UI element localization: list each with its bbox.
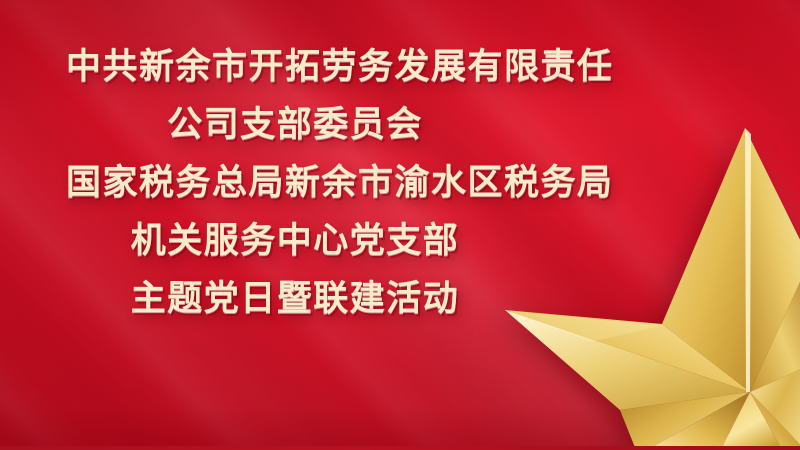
headline-line-4: 机关服务中心党支部: [0, 218, 640, 263]
headline-line-5: 主题党日暨联建活动: [0, 276, 640, 321]
headline-spacer-2: [0, 147, 640, 160]
headline-spacer-4: [0, 263, 640, 276]
headline-line-3: 国家税务总局新余市渝水区税务局: [0, 160, 640, 205]
banner-canvas: 中共新余市开拓劳务发展有限责任 公司支部委员会 国家税务总局新余市渝水区税务局 …: [0, 0, 800, 450]
headline-spacer-3: [0, 205, 640, 218]
bottom-accent-line: [0, 446, 800, 450]
headline-spacer-1: [0, 89, 640, 102]
headline-block: 中共新余市开拓劳务发展有限责任 公司支部委员会 国家税务总局新余市渝水区税务局 …: [0, 44, 640, 321]
headline-line-1: 中共新余市开拓劳务发展有限责任: [0, 44, 640, 89]
headline-line-2: 公司支部委员会: [0, 102, 640, 147]
